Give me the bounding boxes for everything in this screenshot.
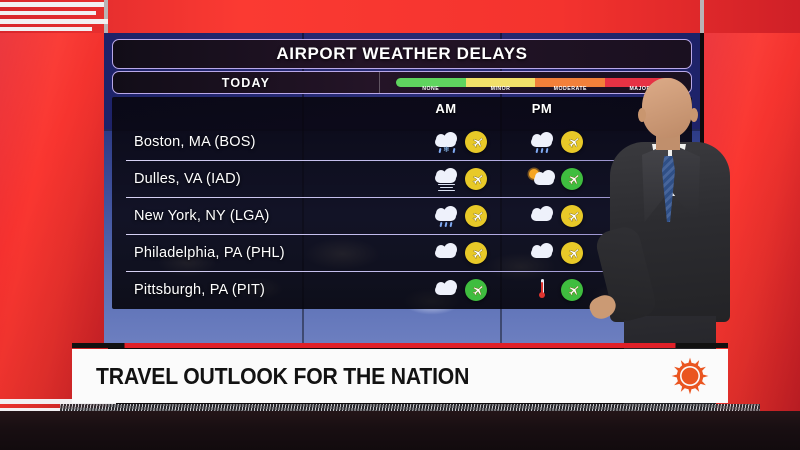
anchor-ear-left	[638, 108, 646, 122]
studio-floor	[0, 411, 800, 450]
legend-label-none: NONE	[396, 86, 466, 92]
sun-logo-icon	[670, 356, 710, 396]
delay-status-badge-none	[561, 168, 583, 190]
column-header-pm: PM	[514, 101, 570, 116]
airport-name: Boston, MA (BOS)	[134, 134, 256, 150]
rain-icon	[528, 130, 556, 154]
forecast-cell-am: ❄	[432, 130, 487, 154]
forecast-cell-am	[432, 278, 487, 302]
delay-status-badge-minor	[465, 168, 487, 190]
forecast-cell-pm	[528, 167, 583, 191]
forecast-cell-pm	[528, 241, 583, 265]
airport-name: Pittsburgh, PA (PIT)	[134, 282, 265, 298]
forecast-cell-am	[432, 167, 487, 191]
rain-snow-mix-icon: ❄	[432, 130, 460, 154]
delay-status-badge-none	[561, 279, 583, 301]
delay-status-badge-minor	[561, 131, 583, 153]
legend-label-minor: MINOR	[466, 86, 536, 92]
rain-icon	[432, 204, 460, 228]
lower-third-banner: TRAVEL OUTLOOK FOR THE NATION	[72, 349, 728, 403]
delay-status-badge-minor	[561, 242, 583, 264]
forecast-cell-am	[432, 241, 487, 265]
cloudy-icon	[432, 278, 460, 302]
forecast-cell-pm	[528, 130, 583, 154]
delay-status-badge-minor	[465, 205, 487, 227]
forecast-cell-pm	[528, 204, 583, 228]
page-title: AIRPORT WEATHER DELAYS	[113, 40, 691, 68]
airport-name: Dulles, VA (IAD)	[134, 171, 241, 187]
anchor-ear-right	[690, 108, 698, 122]
delay-status-badge-none	[465, 279, 487, 301]
set-floor-grille	[60, 404, 760, 411]
mostly-cloudy-icon	[528, 241, 556, 265]
table-row[interactable]: New York, NY (LGA)	[112, 197, 692, 234]
table-column-headers: AM PM	[112, 97, 692, 123]
forecast-cell-pm	[528, 278, 583, 302]
headline-text: TRAVEL OUTLOOK FOR THE NATION	[96, 363, 469, 390]
thermometer-icon	[528, 278, 556, 302]
delay-status-badge-minor	[465, 131, 487, 153]
legend-label-moderate: MODERATE	[535, 86, 605, 92]
lower-third-accent-line	[72, 343, 728, 348]
set-top-band	[0, 0, 800, 33]
delay-status-badge-minor	[561, 205, 583, 227]
mostly-cloudy-icon	[432, 241, 460, 265]
column-header-am: AM	[418, 101, 474, 116]
airport-name: Philadelphia, PA (PHL)	[134, 245, 285, 261]
anchor-head	[642, 78, 692, 138]
panel-subheader-bar: TODAY NONEMINORMODERATEMAJOR	[112, 71, 692, 94]
forecast-cell-am	[432, 204, 487, 228]
today-label: TODAY	[113, 76, 379, 90]
airport-name: New York, NY (LGA)	[134, 208, 270, 224]
table-row[interactable]: Boston, MA (BOS)❄	[112, 123, 692, 160]
panel-title-bar: AIRPORT WEATHER DELAYS	[112, 39, 692, 69]
fog-icon	[432, 167, 460, 191]
delay-status-badge-minor	[465, 242, 487, 264]
table-row[interactable]: Dulles, VA (IAD)	[112, 160, 692, 197]
studio-stage: AIRPORT WEATHER DELAYS TODAY NONEMINORMO…	[0, 0, 800, 450]
mostly-cloudy-icon	[528, 204, 556, 228]
partly-sunny-icon	[528, 167, 556, 191]
